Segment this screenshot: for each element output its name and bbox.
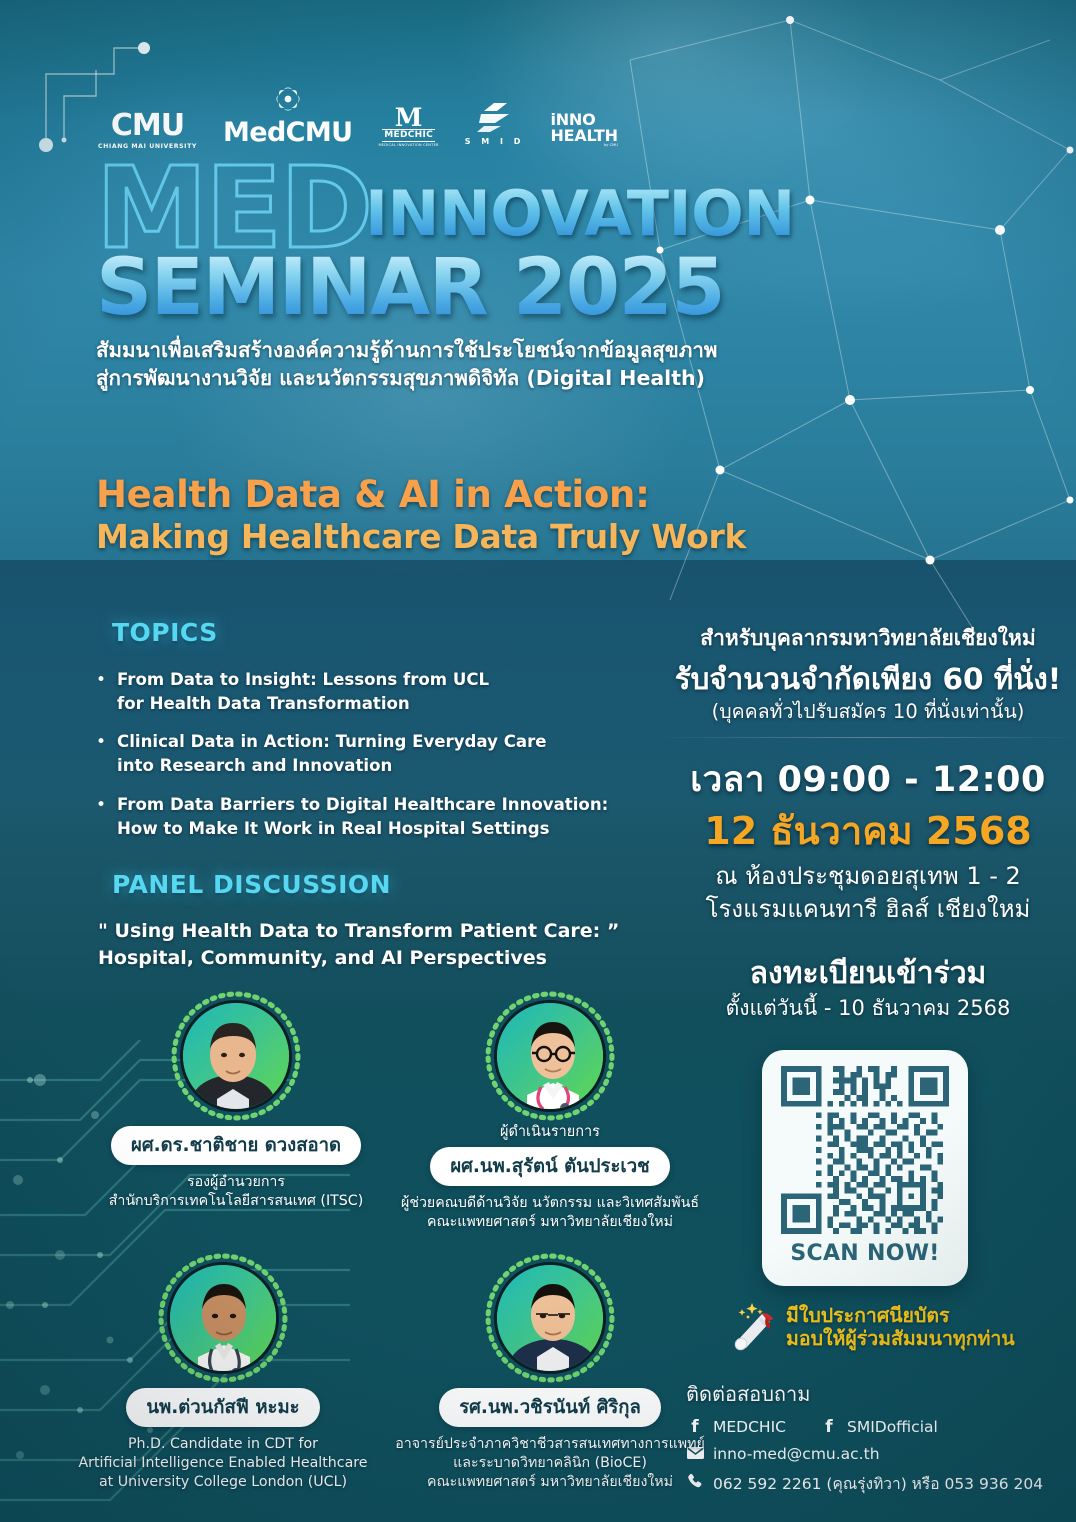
- bullet-icon: •: [96, 793, 106, 840]
- qr-code-card[interactable]: SCAN NOW!: [762, 1050, 968, 1286]
- speaker-role-line3: คณะแพทยศาสตร์ มหาวิทยาลัยเชียงใหม่: [330, 1473, 770, 1492]
- topic-text-line1: From Data Barriers to Digital Healthcare…: [117, 795, 608, 814]
- smid-logo: S M I D: [465, 102, 525, 146]
- topic-text: From Data Barriers to Digital Healthcare…: [117, 793, 608, 840]
- innohealth-tiny: by CMU: [604, 144, 618, 148]
- panel-quote-line1: " Using Health Data to Transform Patient…: [98, 918, 658, 945]
- avatar-photo: [494, 1000, 606, 1112]
- bullet-icon: •: [96, 730, 106, 777]
- speaker-role-line2: คณะแพทยศาสตร์ มหาวิทยาลัยเชียงใหม่: [330, 1213, 770, 1232]
- topics-list: • From Data to Insight: Lessons from UCL…: [96, 668, 616, 855]
- medchic-monogram: M: [395, 107, 423, 128]
- speaker-role-line1: อาจารย์ประจำภาควิชาชีวสารสนเทศทางการแพทย…: [330, 1435, 770, 1454]
- title-block: MEDINNOVATION SEMINAR 2025 สัมมนาเพื่อเส…: [96, 160, 795, 393]
- speaker-name: ผศ.ดร.ชาติชาย ดวงสอาด: [111, 1126, 361, 1165]
- topic-text-line2: for Health Data Transformation: [117, 694, 410, 713]
- certificate-line2: มอบให้ผู้ร่วมสัมมนาทุกท่าน: [786, 1327, 1015, 1350]
- seats-note: (บุคคลทั่วไปรับสมัคร 10 ที่นั่งเท่านั้น): [660, 696, 1076, 727]
- speaker-card-4: รศ.นพ.วชิรนันท์ ศิริกุล อาจารย์ประจำภาคว…: [330, 1262, 770, 1493]
- topics-heading: TOPICS: [112, 618, 218, 647]
- medchic-logo: M MEDCHIC MEDICAL INNOVATION CENTER: [378, 107, 438, 148]
- speaker-role: อาจารย์ประจำภาควิชาชีวสารสนเทศทางการแพทย…: [330, 1435, 770, 1493]
- speaker-role-line1: ผู้ช่วยคณบดีด้านวิจัย นวัตกรรม และวิเทศส…: [330, 1194, 770, 1213]
- panel-discussion-heading: PANEL DISCUSSION: [112, 870, 391, 899]
- speaker-card-2: ผู้ดำเนินรายการ ผศ.นพ.สุรัตน์ ตันประเวช …: [330, 1000, 770, 1232]
- topic-text: From Data to Insight: Lessons from UCL f…: [117, 668, 489, 715]
- seats-available: รับจำนวนจำกัดเพียง 60 ที่นั่ง!: [660, 655, 1076, 702]
- avatar-photo: [167, 1262, 279, 1374]
- headline-block: Health Data & AI in Action: Making Healt…: [96, 474, 746, 556]
- speaker-name: ผศ.นพ.สุรัตน์ ตันประเวช: [430, 1147, 669, 1186]
- innohealth-line2: HEALTH: [550, 128, 617, 144]
- medcmu-flower-icon: [275, 86, 301, 112]
- event-date: 12 ธันวาคม 2568: [660, 800, 1076, 861]
- topic-text-line2: How to Make It Work in Real Hospital Set…: [117, 819, 549, 838]
- innohealth-logo: iNNO HEALTH by CMU: [550, 112, 617, 148]
- panel-quote-line2: Hospital, Community, and AI Perspectives: [98, 945, 658, 972]
- event-time: เวลา 09:00 - 12:00: [660, 752, 1076, 807]
- poster-canvas: CMU CHIANG MAI UNIVERSITY MedCMU: [0, 0, 1076, 1522]
- headline-line1: Health Data & AI in Action:: [96, 474, 746, 515]
- bullet-icon: •: [96, 668, 106, 715]
- avatar: [167, 1262, 279, 1374]
- topic-text-line1: From Data to Insight: Lessons from UCL: [117, 670, 489, 689]
- speaker-name: นพ.ต่วนกัสฟี หะมะ: [126, 1388, 319, 1427]
- register-heading: ลงทะเบียนเข้าร่วม: [660, 950, 1076, 997]
- medchic-logo-subtext: MEDICAL INNOVATION CENTER: [378, 144, 438, 148]
- medcmu-logo: MedCMU: [223, 86, 353, 146]
- topic-item: • From Data Barriers to Digital Healthca…: [96, 793, 616, 840]
- venue-line2: โรงแรมแคนทารี ฮิลส์ เชียงใหม่: [660, 889, 1076, 928]
- certificate-text: มีใบประกาศนียบัตร มอบให้ผู้ร่วมสัมมนาทุก…: [786, 1304, 1015, 1351]
- speaker-name: รศ.นพ.วชิรนันท์ ศิริกุล: [439, 1388, 661, 1427]
- certificate-line1: มีใบประกาศนียบัตร: [786, 1304, 1015, 1327]
- avatar-photo: [180, 1000, 292, 1112]
- moderator-tag: ผู้ดำเนินรายการ: [330, 1120, 770, 1143]
- smid-logo-text: S M I D: [465, 138, 525, 146]
- speaker-role-line2: และระบาดวิทยาคลินิก (BioCE): [330, 1454, 770, 1473]
- section-divider: [660, 737, 1076, 738]
- contact-facebook-2[interactable]: SMIDofficial: [847, 1418, 938, 1436]
- title-innovation: INNOVATION: [365, 186, 795, 242]
- panel-quote: " Using Health Data to Transform Patient…: [98, 918, 658, 972]
- qr-scan-label: SCAN NOW!: [790, 1241, 939, 1266]
- audience-note: สำหรับบุคลากรมหาวิทยาลัยเชียงใหม่: [660, 622, 1076, 655]
- avatar: [494, 1000, 606, 1112]
- title-thai-line2: สู่การพัฒนางานวิจัย และนวัตกรรมสุขภาพดิจ…: [96, 365, 795, 393]
- speaker-role: ผู้ช่วยคณบดีด้านวิจัย นวัตกรรม และวิเทศส…: [330, 1194, 770, 1232]
- logo-row: CMU CHIANG MAI UNIVERSITY MedCMU: [98, 90, 618, 150]
- topic-text-line1: Clinical Data in Action: Turning Everyda…: [117, 732, 546, 751]
- avatar-photo: [494, 1262, 606, 1374]
- qr-code-image[interactable]: [781, 1066, 949, 1234]
- title-thai-line1: สัมมนาเพื่อเสริมสร้างองค์ความรู้ด้านการใ…: [96, 337, 795, 365]
- avatar: [494, 1262, 606, 1374]
- avatar: [180, 1000, 292, 1112]
- smid-arrow-icon: [475, 102, 515, 132]
- facebook-icon: f: [820, 1417, 838, 1437]
- headline-line2: Making Healthcare Data Truly Work: [96, 519, 746, 556]
- medcmu-logo-text: MedCMU: [223, 119, 353, 146]
- topic-text-line2: into Research and Innovation: [117, 756, 392, 775]
- topic-item: • From Data to Insight: Lessons from UCL…: [96, 668, 616, 715]
- title-seminar-2025: SEMINAR 2025: [96, 251, 795, 326]
- medchic-logo-text: MEDCHIC: [382, 129, 435, 142]
- topic-item: • Clinical Data in Action: Turning Every…: [96, 730, 616, 777]
- cmu-logo-text: CMU: [111, 111, 184, 141]
- topic-text: Clinical Data in Action: Turning Everyda…: [117, 730, 546, 777]
